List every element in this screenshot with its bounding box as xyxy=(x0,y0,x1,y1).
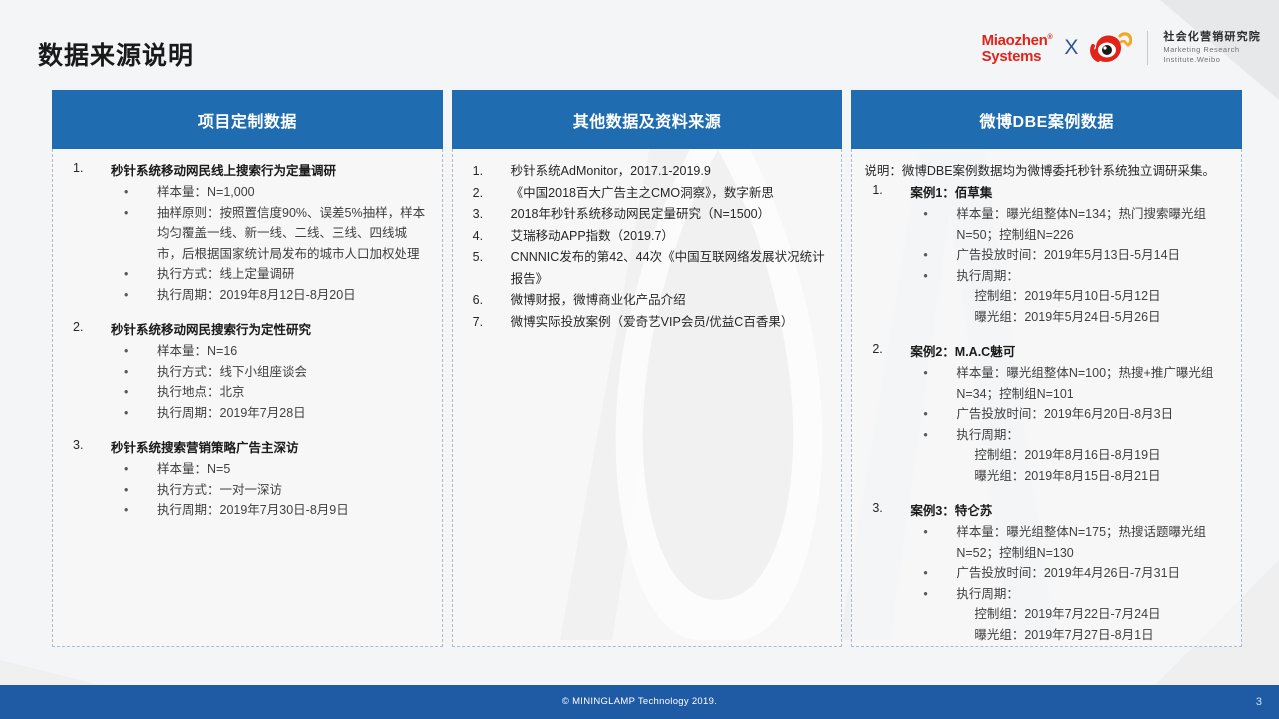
item-number: 3. xyxy=(73,438,83,452)
item-title: 秒针系统搜索营销策略广告主深访 xyxy=(111,438,432,459)
item-title: 秒针系统移动网民搜索行为定性研究 xyxy=(111,320,432,341)
bullet-dot: • xyxy=(923,404,927,425)
list-item: 2.《中国2018百大广告主之CMO洞察》，数字新思 xyxy=(459,183,832,205)
bullet-item: •执行方式：线下小组座谈会 xyxy=(111,362,432,383)
bullet-dot: • xyxy=(923,584,927,605)
bullet-dot: • xyxy=(923,266,927,287)
item-number: 1. xyxy=(473,161,483,183)
item-title: 秒针系统移动网民线上搜索行为定量调研 xyxy=(111,161,432,182)
bullet-text: 执行周期：2019年7月28日 xyxy=(157,406,306,420)
bullet-text: 样本量：N=1,000 xyxy=(157,185,255,199)
numbered-list-3: 1. 案例1：佰草集 •样本量：曝光组整体N=134；热门搜索曝光组N=50；控… xyxy=(858,183,1231,645)
item-number: 7. xyxy=(473,312,483,334)
bullet-item: •抽样原则：按照置信度90%、误差5%抽样，样本均匀覆盖一线、新一线、二线、三线… xyxy=(111,203,432,265)
list-item: 6.微博财报，微博商业化产品介绍 xyxy=(459,290,832,312)
bullet-item: •广告投放时间：2019年4月26日-7月31日 xyxy=(910,563,1231,584)
bullet-item: •广告投放时间：2019年6月20日-8月3日 xyxy=(910,404,1231,425)
mri-logo-en-line1: Marketing Research xyxy=(1163,46,1261,55)
bullet-dot: • xyxy=(124,182,128,203)
item-number: 6. xyxy=(473,290,483,312)
list-item: 2. 案例2：M.A.C魅可 •样本量：曝光组整体N=100；热搜+推广曝光组N… xyxy=(858,342,1231,486)
item-title: 案例2：M.A.C魅可 xyxy=(910,342,1231,363)
sub-line: 曝光组：2019年5月24日-5月26日 xyxy=(910,307,1231,328)
bullet-item: •执行周期： xyxy=(910,266,1231,287)
column-weibo-dbe-case-data: 微博DBE案例数据 说明：微博DBE案例数据均为微博委托秒针系统独立调研采集。 … xyxy=(851,90,1242,647)
item-number: 5. xyxy=(473,247,483,269)
item-number: 4. xyxy=(473,226,483,248)
miaozhen-logo-line1: Miaozhen® xyxy=(982,33,1053,48)
bullet-item: •样本量：曝光组整体N=175；热搜话题曝光组N=52；控制组N=130 xyxy=(910,522,1231,563)
item-text: 《中国2018百大广告主之CMO洞察》，数字新思 xyxy=(511,186,774,200)
list-item: 3.2018年秒针系统移动网民定量研究（N=1500） xyxy=(459,204,832,226)
item-text: 秒针系统AdMonitor，2017.1-2019.9 xyxy=(511,164,711,178)
sub-line: 曝光组：2019年7月27日-8月1日 xyxy=(910,625,1231,646)
bullet-text: 抽样原则：按照置信度90%、误差5%抽样，样本均匀覆盖一线、新一线、二线、三线、… xyxy=(157,206,425,261)
item-number: 1. xyxy=(872,183,882,197)
bullet-text: 执行地点：北京 xyxy=(157,385,245,399)
bullet-list: •样本量：N=1,000 •抽样原则：按照置信度90%、误差5%抽样，样本均匀覆… xyxy=(111,182,432,305)
footer-copyright: © MININGLAMP Technology 2019. xyxy=(0,685,1279,719)
bullet-dot: • xyxy=(124,480,128,501)
sub-line: 控制组：2019年5月10日-5月12日 xyxy=(910,286,1231,307)
column-note: 说明：微博DBE案例数据均为微博委托秒针系统独立调研采集。 xyxy=(858,161,1231,182)
column-project-custom-data: 项目定制数据 1. 秒针系统移动网民线上搜索行为定量调研 •样本量：N=1,00… xyxy=(52,90,443,647)
columns-container: 项目定制数据 1. 秒针系统移动网民线上搜索行为定量调研 •样本量：N=1,00… xyxy=(52,90,1242,647)
list-spacer xyxy=(858,327,1231,342)
bullet-dot: • xyxy=(923,245,927,266)
list-item: 2. 秒针系统移动网民搜索行为定性研究 •样本量：N=16 •执行方式：线下小组… xyxy=(59,320,432,423)
bullet-text: 样本量：曝光组整体N=100；热搜+推广曝光组N=34；控制组N=101 xyxy=(956,366,1213,401)
bullet-list: •样本量：曝光组整体N=175；热搜话题曝光组N=52；控制组N=130 •广告… xyxy=(910,522,1231,604)
column-body-3: 说明：微博DBE案例数据均为微博委托秒针系统独立调研采集。 1. 案例1：佰草集… xyxy=(851,149,1242,647)
bullet-list: •样本量：曝光组整体N=134；热门搜索曝光组N=50；控制组N=226 •广告… xyxy=(910,204,1231,286)
miaozhen-logo: Miaozhen® Systems xyxy=(982,33,1053,64)
bullet-dot: • xyxy=(923,563,927,584)
bullet-item: •样本量：曝光组整体N=100；热搜+推广曝光组N=34；控制组N=101 xyxy=(910,363,1231,404)
list-item: 5.CNNNIC发布的第42、44次《中国互联网络发展状况统计报告》 xyxy=(459,247,832,290)
item-number: 1. xyxy=(73,161,83,175)
bullet-text: 执行周期：2019年7月30日-8月9日 xyxy=(157,503,349,517)
bullet-text: 执行周期： xyxy=(956,269,1019,283)
bullet-text: 执行周期： xyxy=(956,587,1019,601)
bullet-text: 执行方式：一对一深访 xyxy=(157,483,282,497)
list-item: 1.秒针系统AdMonitor，2017.1-2019.9 xyxy=(459,161,832,183)
bullet-item: •执行周期：2019年8月12日-8月20日 xyxy=(111,285,432,306)
sub-line: 曝光组：2019年8月15日-8月21日 xyxy=(910,466,1231,487)
column-header-1: 项目定制数据 xyxy=(52,90,443,149)
bullet-dot: • xyxy=(124,285,128,306)
column-body-1: 1. 秒针系统移动网民线上搜索行为定量调研 •样本量：N=1,000 •抽样原则… xyxy=(52,149,443,647)
bullet-item: •执行地点：北京 xyxy=(111,382,432,403)
weibo-eye-icon xyxy=(1090,30,1132,66)
bullet-text: 执行方式：线下小组座谈会 xyxy=(157,365,307,379)
item-text: CNNNIC发布的第42、44次《中国互联网络发展状况统计报告》 xyxy=(511,250,825,286)
bullet-text: 广告投放时间：2019年6月20日-8月3日 xyxy=(956,407,1173,421)
bullet-item: •样本量：曝光组整体N=134；热门搜索曝光组N=50；控制组N=226 xyxy=(910,204,1231,245)
bullet-item: •执行周期：2019年7月30日-8月9日 xyxy=(111,500,432,521)
bullet-dot: • xyxy=(124,382,128,403)
item-text: 微博财报，微博商业化产品介绍 xyxy=(511,293,686,307)
mri-logo-cn: 社会化营销研究院 xyxy=(1163,31,1261,44)
bullet-dot: • xyxy=(923,204,927,225)
item-title: 案例1：佰草集 xyxy=(910,183,1231,204)
bullet-text: 广告投放时间：2019年4月26日-7月31日 xyxy=(956,566,1180,580)
list-item: 1. 秒针系统移动网民线上搜索行为定量调研 •样本量：N=1,000 •抽样原则… xyxy=(59,161,432,305)
marketing-research-institute-logo: 社会化营销研究院 Marketing Research Institute.We… xyxy=(1163,31,1261,65)
bullet-text: 样本量：N=16 xyxy=(157,344,237,358)
mri-logo-en-line2: Institute.Weibo xyxy=(1163,56,1261,65)
bullet-text: 执行方式：线上定量调研 xyxy=(157,267,295,281)
bullet-dot: • xyxy=(124,362,128,383)
sub-line: 控制组：2019年8月16日-8月19日 xyxy=(910,445,1231,466)
trademark-symbol: ® xyxy=(1048,34,1053,41)
logo-divider xyxy=(1147,31,1148,65)
miaozhen-logo-line2: Systems xyxy=(982,49,1042,64)
numbered-list-1: 1. 秒针系统移动网民线上搜索行为定量调研 •样本量：N=1,000 •抽样原则… xyxy=(59,161,432,521)
bullet-item: •广告投放时间：2019年5月13日-5月14日 xyxy=(910,245,1231,266)
bullet-item: •样本量：N=16 xyxy=(111,341,432,362)
logo-cluster: Miaozhen® Systems X 社会化营销研究院 Marketing R… xyxy=(982,24,1261,72)
column-other-data-sources: 其他数据及资料来源 1.秒针系统AdMonitor，2017.1-2019.9 … xyxy=(452,90,843,647)
logo-separator-x: X xyxy=(1060,36,1082,60)
column-header-2: 其他数据及资料来源 xyxy=(452,90,843,149)
bullet-text: 执行周期： xyxy=(956,428,1019,442)
list-item: 3. 秒针系统搜索营销策略广告主深访 •样本量：N=5 •执行方式：一对一深访 … xyxy=(59,438,432,521)
bullet-text: 样本量：曝光组整体N=134；热门搜索曝光组N=50；控制组N=226 xyxy=(956,207,1206,242)
list-item: 3. 案例3：特仑苏 •样本量：曝光组整体N=175；热搜话题曝光组N=52；控… xyxy=(858,501,1231,645)
list-spacer xyxy=(59,423,432,438)
item-text: 微博实际投放案例（爱奇艺VIP会员/优益C百香果） xyxy=(511,315,794,329)
bullet-item: •执行方式：一对一深访 xyxy=(111,480,432,501)
item-text: 艾瑞移动APP指数（2019.7） xyxy=(511,229,674,243)
footer-bar: © MININGLAMP Technology 2019. 3 xyxy=(0,685,1279,719)
page-title: 数据来源说明 xyxy=(38,36,194,72)
bullet-item: •执行周期：2019年7月28日 xyxy=(111,403,432,424)
bullet-item: •执行周期： xyxy=(910,584,1231,605)
list-item: 1. 案例1：佰草集 •样本量：曝光组整体N=134；热门搜索曝光组N=50；控… xyxy=(858,183,1231,327)
column-body-2: 1.秒针系统AdMonitor，2017.1-2019.9 2.《中国2018百… xyxy=(452,149,843,647)
bullet-dot: • xyxy=(124,264,128,285)
bullet-item: •执行方式：线上定量调研 xyxy=(111,264,432,285)
item-title: 案例3：特仑苏 xyxy=(910,501,1231,522)
bullet-item: •样本量：N=1,000 xyxy=(111,182,432,203)
slide-canvas: 数据来源说明 Miaozhen® Systems X 社会化营销研究院 Mark… xyxy=(0,0,1279,719)
bullet-text: 样本量：曝光组整体N=175；热搜话题曝光组N=52；控制组N=130 xyxy=(956,525,1206,560)
bullet-item: •样本量：N=5 xyxy=(111,459,432,480)
bullet-text: 样本量：N=5 xyxy=(157,462,230,476)
bullet-dot: • xyxy=(124,341,128,362)
bullet-dot: • xyxy=(923,425,927,446)
bullet-dot: • xyxy=(124,403,128,424)
bullet-list: •样本量：N=5 •执行方式：一对一深访 •执行周期：2019年7月30日-8月… xyxy=(111,459,432,521)
item-number: 3. xyxy=(872,501,882,515)
list-item: 7.微博实际投放案例（爱奇艺VIP会员/优益C百香果） xyxy=(459,312,832,334)
bullet-list: •样本量：曝光组整体N=100；热搜+推广曝光组N=34；控制组N=101 •广… xyxy=(910,363,1231,445)
column-header-3: 微博DBE案例数据 xyxy=(851,90,1242,149)
sub-line: 控制组：2019年7月22日-7月24日 xyxy=(910,604,1231,625)
list-spacer xyxy=(59,305,432,320)
bullet-text: 执行周期：2019年8月12日-8月20日 xyxy=(157,288,356,302)
item-text: 2018年秒针系统移动网民定量研究（N=1500） xyxy=(511,207,770,221)
item-number: 2. xyxy=(872,342,882,356)
item-number: 3. xyxy=(473,204,483,226)
item-number: 2. xyxy=(473,183,483,205)
bullet-dot: • xyxy=(124,459,128,480)
bullet-list: •样本量：N=16 •执行方式：线下小组座谈会 •执行地点：北京 •执行周期：2… xyxy=(111,341,432,423)
bullet-text: 广告投放时间：2019年5月13日-5月14日 xyxy=(956,248,1180,262)
numbered-list-2: 1.秒针系统AdMonitor，2017.1-2019.9 2.《中国2018百… xyxy=(459,161,832,333)
bullet-dot: • xyxy=(923,363,927,384)
list-item: 4.艾瑞移动APP指数（2019.7） xyxy=(459,226,832,248)
bullet-dot: • xyxy=(923,522,927,543)
bullet-dot: • xyxy=(124,500,128,521)
item-number: 2. xyxy=(73,320,83,334)
bullet-dot: • xyxy=(124,203,128,224)
page-number: 3 xyxy=(1256,685,1262,719)
bullet-item: •执行周期： xyxy=(910,425,1231,446)
list-spacer xyxy=(858,486,1231,501)
